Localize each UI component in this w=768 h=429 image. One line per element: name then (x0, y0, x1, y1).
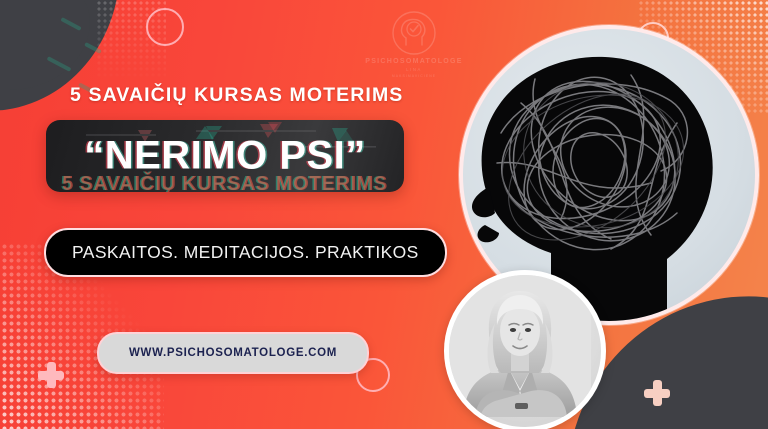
brand-name-text: PSICHOSOMATOLOGE (356, 58, 472, 65)
brand-watermark-logo: PSICHOSOMATOLOGE LINA MAKSIMAVICIENE (356, 10, 472, 88)
website-pill-text: WWW.PSICHOSOMATOLOGE.COM (129, 347, 337, 359)
decor-triangle (338, 130, 354, 142)
plus-shape-icon (644, 380, 670, 406)
presenter-portrait-illustration (449, 275, 591, 417)
tangled-thoughts-scribble (491, 63, 701, 263)
plus-shape-icon (38, 362, 64, 388)
decor-blob-top-left-2 (0, 0, 90, 90)
promo-banner: PSICHOSOMATOLOGE LINA MAKSIMAVICIENE (0, 0, 768, 429)
ring-circle-icon (146, 8, 184, 46)
kicker-text: 5 SAVAIČIŲ KURSAS MOTERIMS (70, 84, 403, 107)
brand-sub-text: LINA (356, 67, 472, 72)
brand-sub2-text: MAKSIMAVICIENE (356, 74, 472, 78)
presenter-portrait-circle (444, 270, 606, 429)
decor-triangle (268, 122, 282, 133)
decor-triangle (196, 126, 214, 139)
website-pill[interactable]: WWW.PSICHOSOMATOLOGE.COM (97, 332, 369, 374)
head-checkmark-icon (391, 10, 437, 56)
subtitle-pill-text: PASKAITOS. MEDITACIJOS. PRAKTIKOS (72, 242, 419, 263)
subtitle-pill: PASKAITOS. MEDITACIJOS. PRAKTIKOS (44, 228, 447, 277)
